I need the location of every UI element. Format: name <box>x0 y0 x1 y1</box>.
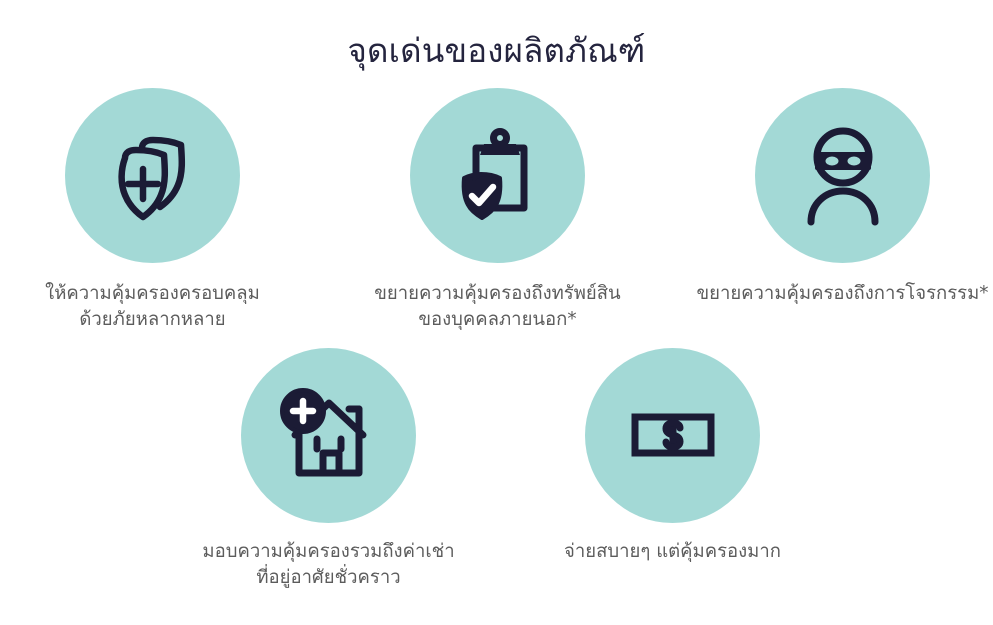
feature-item-burglary: ขยายความคุ้มครองถึงการโจรกรรม* <box>692 88 993 307</box>
feature-caption: ขยายความคุ้มครองถึงการโจรกรรม* <box>696 281 988 307</box>
masked-burglar-icon <box>755 88 930 263</box>
features-row-one: ให้ความคุ้มครองครอบคลุม ด้วยภัยหลากหลาย <box>0 88 993 334</box>
feature-item-affordable-premium: จ่ายสบายๆ แต่คุ้มครองมาก <box>523 348 823 565</box>
page-title: จุดเด่นของผลิตภัณฑ์ <box>0 30 993 71</box>
feature-item-temporary-housing: มอบความคุ้มครองรวมถึงค่าเช่า ที่อยู่อาศั… <box>179 348 479 592</box>
feature-item-coverage: ให้ความคุ้มครองครอบคลุม ด้วยภัยหลากหลาย <box>2 88 303 334</box>
banknote-dollar-icon <box>585 348 760 523</box>
feature-caption: ให้ความคุ้มครองครอบคลุม ด้วยภัยหลากหลาย <box>45 281 260 334</box>
feature-caption: ขยายความคุ้มครองถึงทรัพย์สิน ของบุคคลภาย… <box>374 281 620 334</box>
house-plus-icon <box>241 348 416 523</box>
double-shield-plus-icon <box>65 88 240 263</box>
features-row-two: มอบความคุ้มครองรวมถึงค่าเช่า ที่อยู่อาศั… <box>0 348 993 592</box>
feature-item-third-party-property: ขยายความคุ้มครองถึงทรัพย์สิน ของบุคคลภาย… <box>347 88 648 334</box>
product-highlights-page: จุดเด่นของผลิตภัณฑ์ ให้ความคุ้มครองครอ <box>0 0 993 625</box>
features-grid: ให้ความคุ้มครองครอบคลุม ด้วยภัยหลากหลาย <box>0 88 993 591</box>
feature-caption: จ่ายสบายๆ แต่คุ้มครองมาก <box>564 539 781 565</box>
clipboard-shield-check-icon <box>410 88 585 263</box>
feature-caption: มอบความคุ้มครองรวมถึงค่าเช่า ที่อยู่อาศั… <box>202 539 454 592</box>
